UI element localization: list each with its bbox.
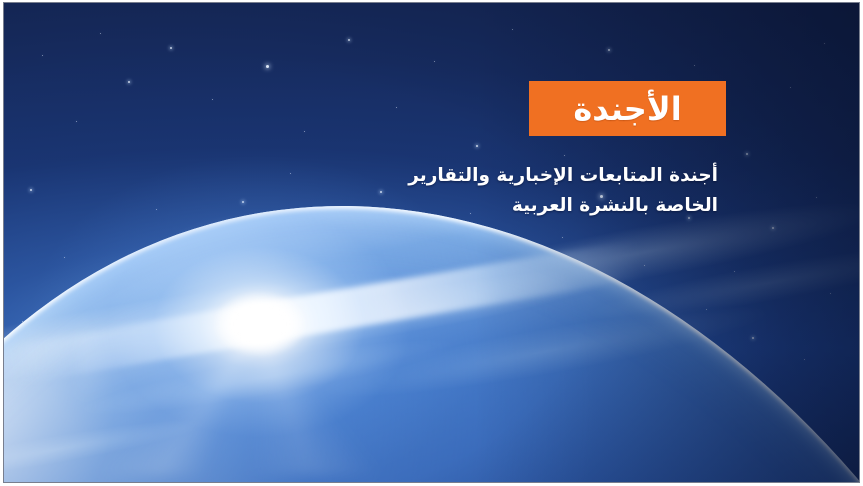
agenda-subtitle-line-1: أجندة المتابعات الإخبارية والتقارير [378,161,718,191]
agenda-title-text: الأجندة [573,93,681,125]
agenda-subtitle: أجندة المتابعات الإخبارية والتقارير الخا… [378,161,718,221]
agenda-subtitle-line-2: الخاصة بالنشرة العربية [378,191,718,221]
agenda-title-banner: الأجندة [529,81,726,136]
earth-globe [4,195,859,482]
slide-frame: الأجندة أجندة المتابعات الإخبارية والتقا… [4,3,859,482]
slide-canvas: الأجندة أجندة المتابعات الإخبارية والتقا… [0,0,863,486]
earth-surface [4,195,859,482]
